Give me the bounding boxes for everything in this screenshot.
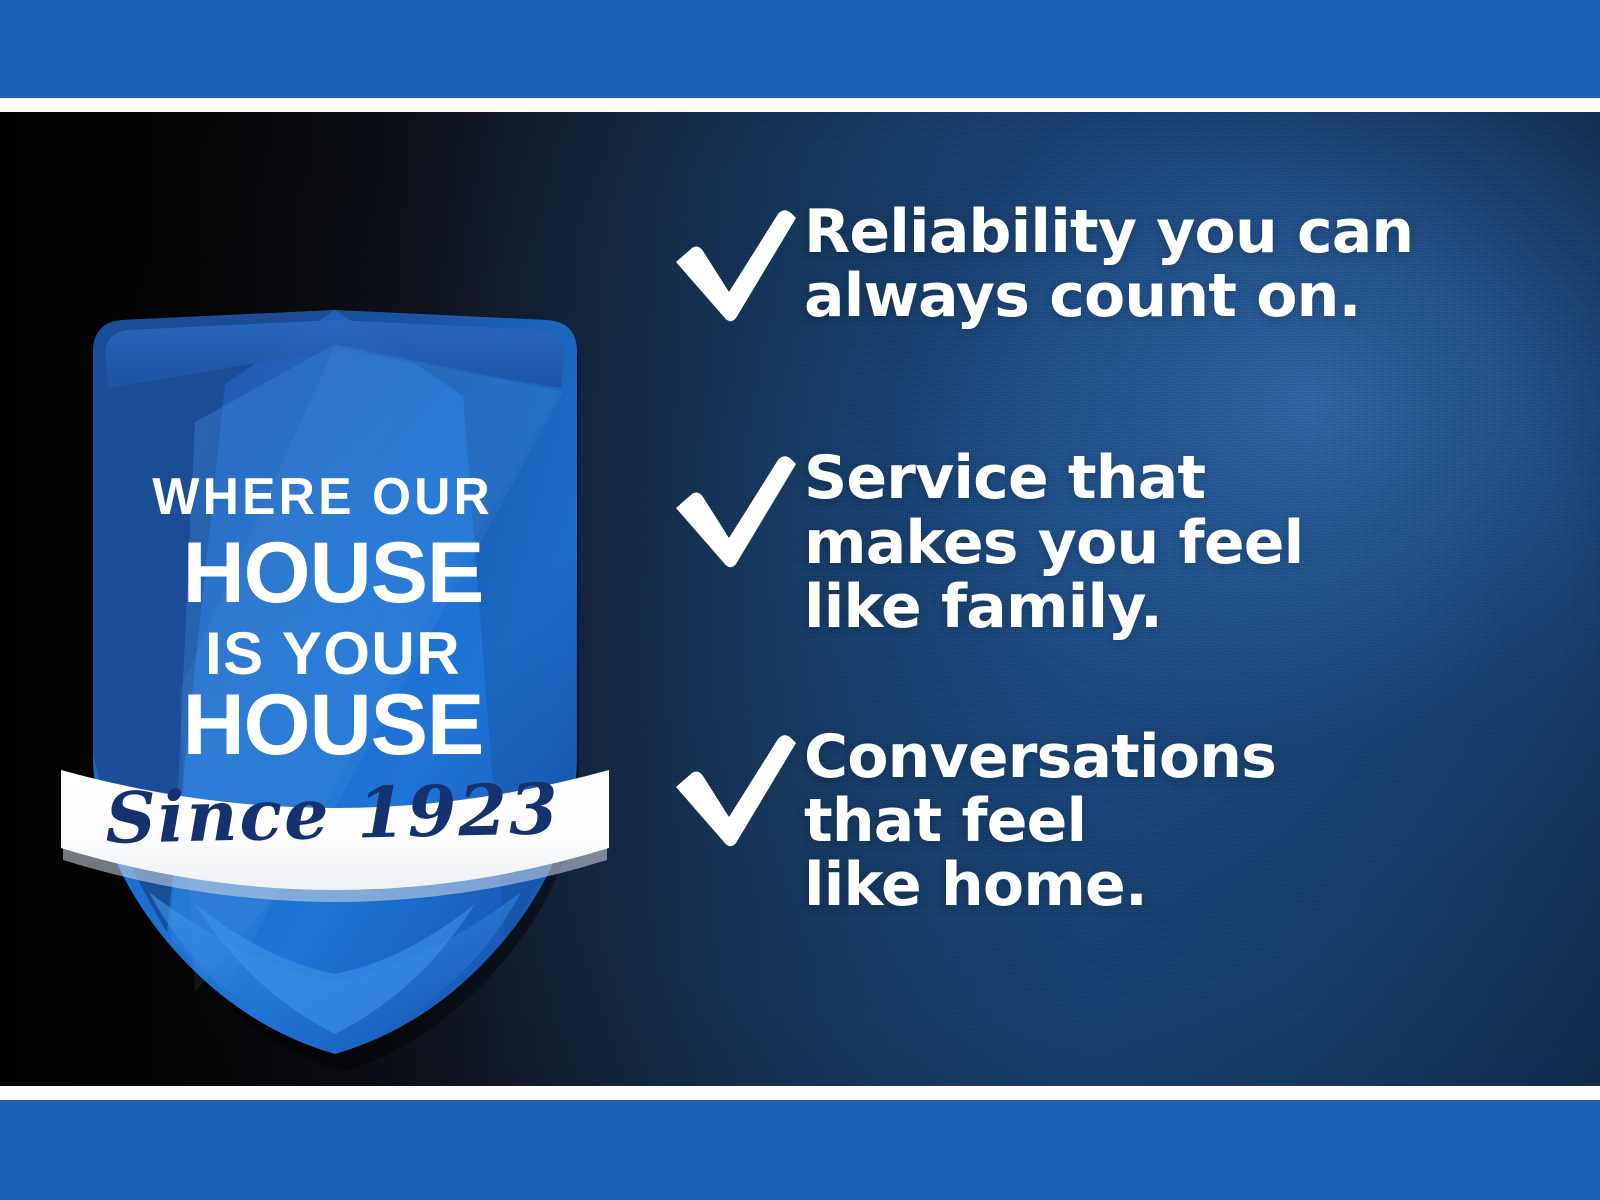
benefit-text: Conversations that feel like home. [804, 725, 1276, 918]
promo-graphic: WHERE OUR HOUSE IS YOUR HOUSE Since 1923… [0, 0, 1600, 1200]
benefit-item: Conversations that feel like home. [672, 725, 1552, 918]
shield-line-4: HOUSE [183, 677, 484, 773]
benefit-item: Reliability you can always count on. [672, 200, 1552, 328]
bottom-brand-band [0, 1100, 1600, 1200]
benefit-text: Service that makes you feel like family. [804, 446, 1303, 639]
benefits-list: Reliability you can always count on. Ser… [672, 200, 1552, 918]
top-brand-band [0, 0, 1600, 98]
banner-since-text: Since 1923 [104, 767, 560, 859]
shield-line-2: HOUSE [183, 525, 484, 621]
checkmark-icon [672, 446, 804, 568]
heritage-shield-badge: WHERE OUR HOUSE IS YOUR HOUSE Since 1923 [75, 292, 595, 1052]
checkmark-icon [672, 725, 804, 847]
bottom-white-divider [0, 1086, 1600, 1100]
benefit-item: Service that makes you feel like family. [672, 446, 1552, 639]
top-white-divider [0, 98, 1600, 112]
checkmark-icon [672, 200, 804, 322]
shield-line-1: WHERE OUR [152, 467, 493, 525]
benefit-text: Reliability you can always count on. [804, 200, 1413, 328]
main-canvas: WHERE OUR HOUSE IS YOUR HOUSE Since 1923… [0, 112, 1600, 1086]
